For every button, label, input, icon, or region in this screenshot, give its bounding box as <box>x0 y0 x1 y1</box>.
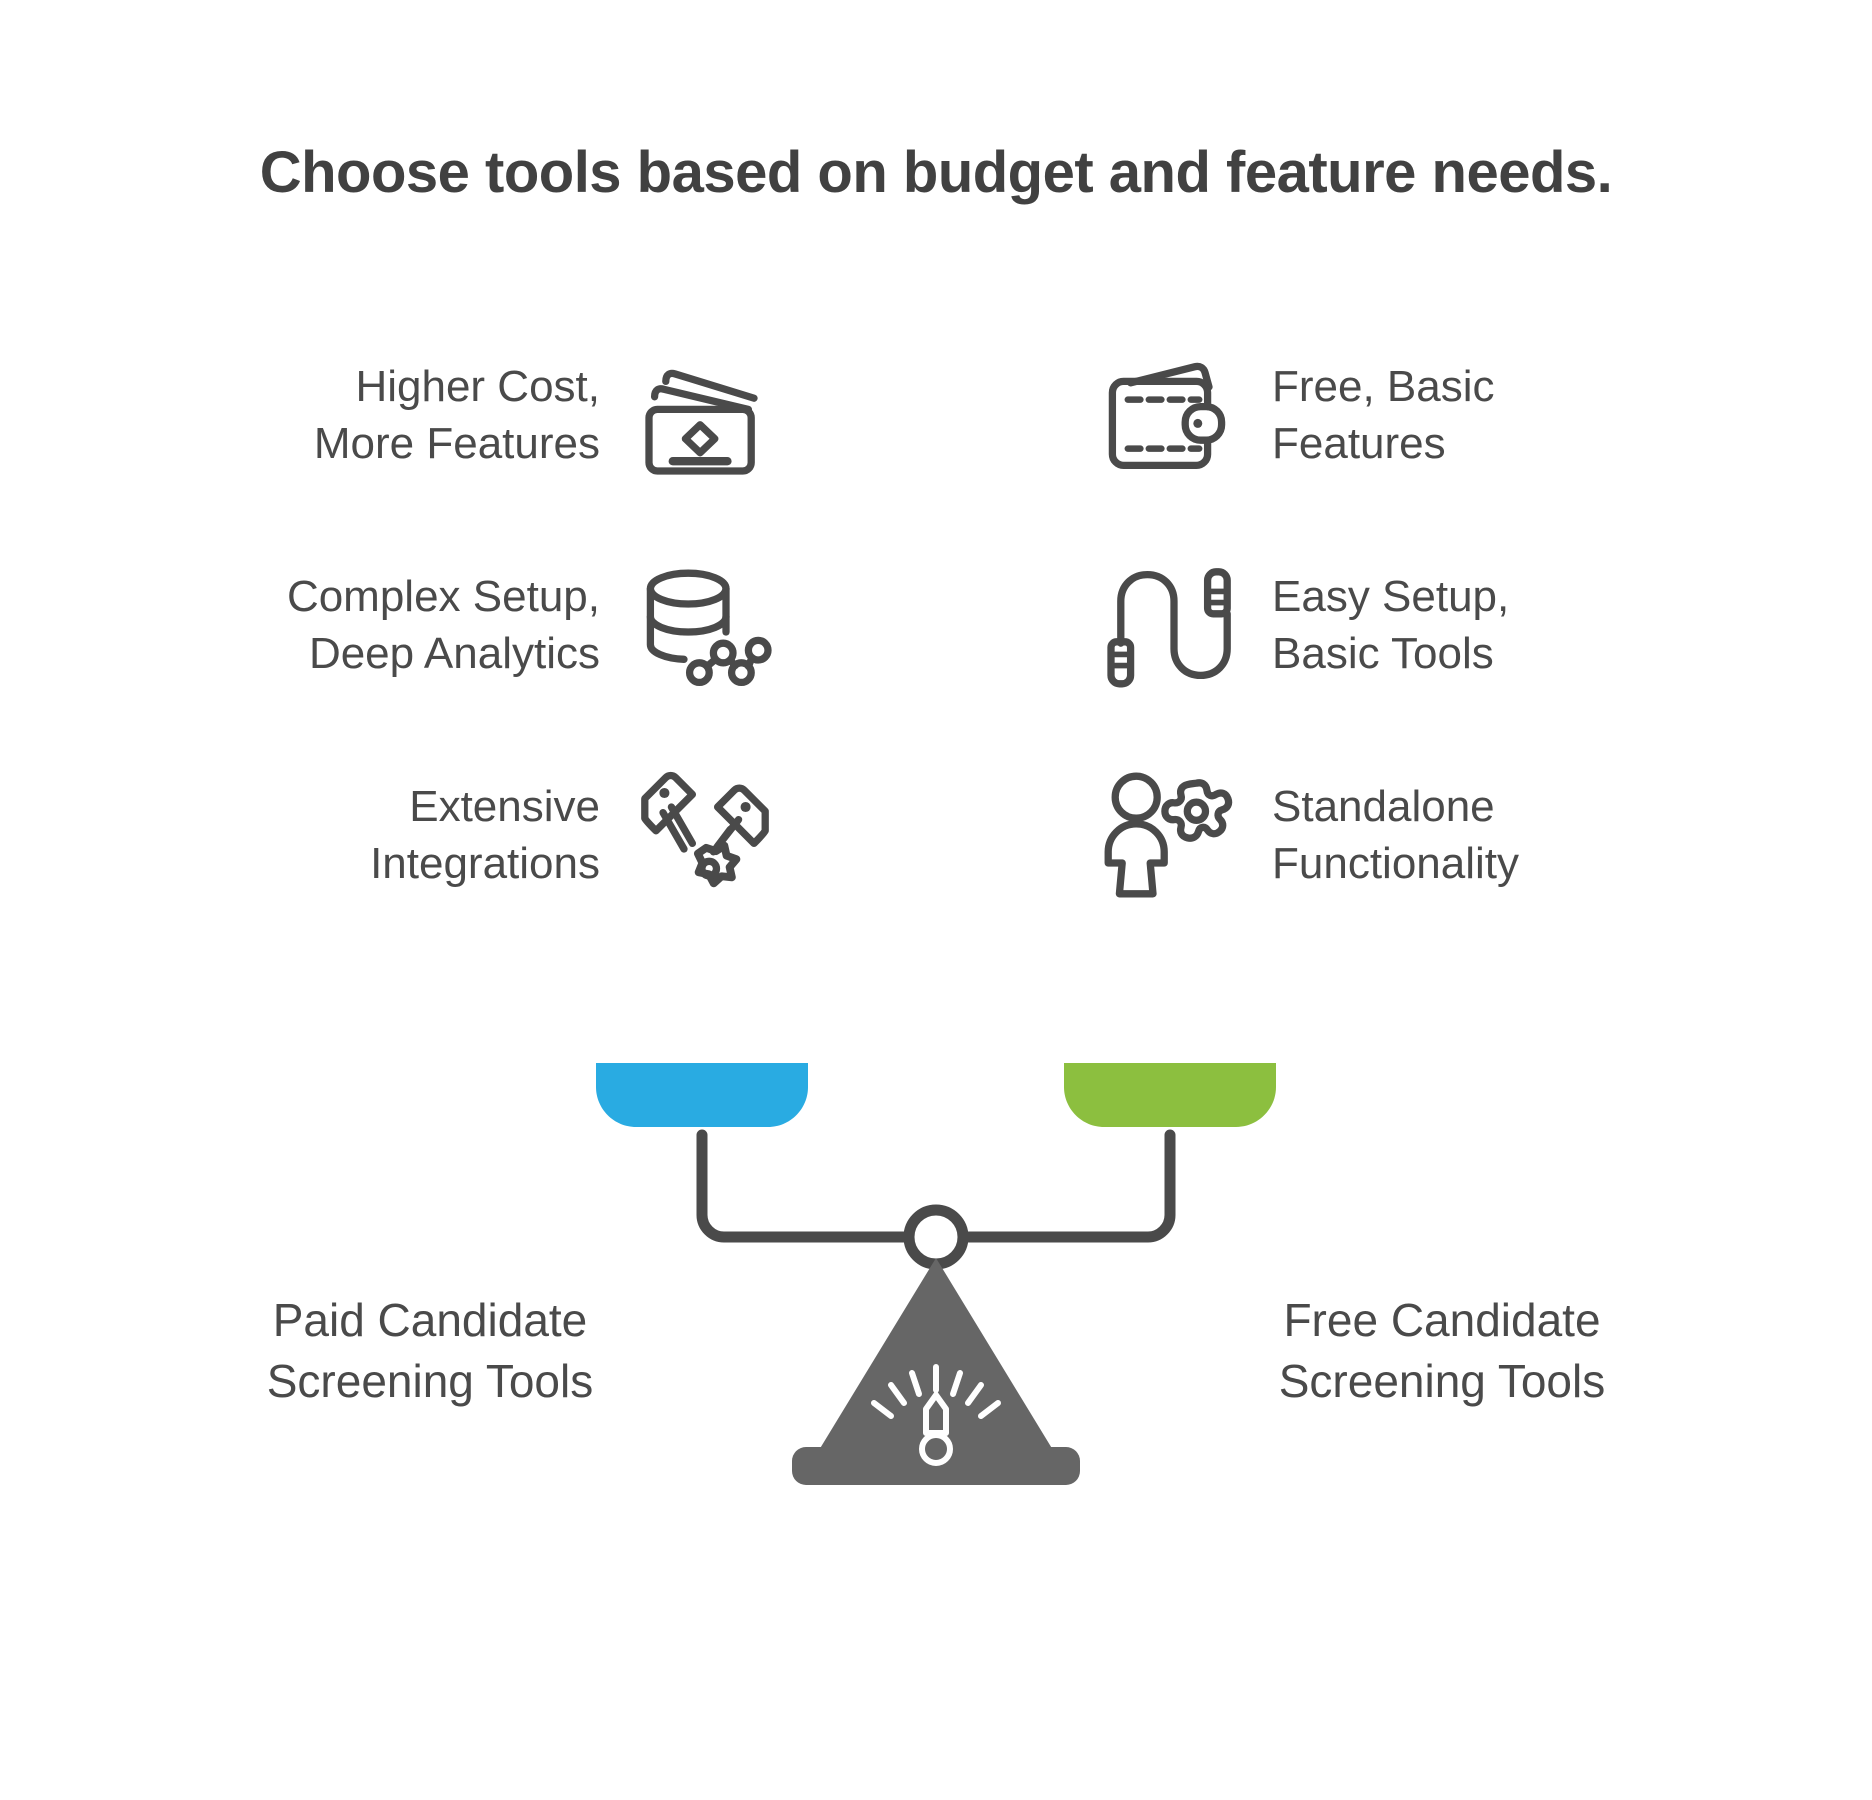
feature-label: Extensive Integrations <box>370 778 630 892</box>
feature-row: Extensive Integrations <box>0 750 1872 960</box>
free-side-pan <box>1064 1063 1276 1127</box>
balance-scale-icon <box>586 1055 1286 1505</box>
tags-gear-icon <box>630 760 780 910</box>
caption-paid: Paid Candidate Screening Tools <box>130 1290 730 1411</box>
feature-label: Free, Basic Features <box>1242 358 1495 472</box>
feature-right-3: Standalone Functionality <box>1092 750 1732 920</box>
feature-left-2: Complex Setup, Deep Analytics <box>140 540 780 710</box>
page-title: Choose tools based on budget and feature… <box>0 140 1872 207</box>
database-analytics-icon <box>630 550 780 700</box>
feature-right-1: Free, Basic Features <box>1092 330 1732 500</box>
feature-row: Higher Cost, More Features <box>0 330 1872 540</box>
infographic-root: Choose tools based on budget and feature… <box>0 0 1872 1800</box>
feature-rows: Higher Cost, More Features <box>0 330 1872 960</box>
feature-right-2: Easy Setup, Basic Tools <box>1092 540 1732 710</box>
feature-label: Higher Cost, More Features <box>314 358 630 472</box>
person-gear-icon <box>1092 760 1242 910</box>
wallet-icon <box>1092 340 1242 490</box>
audio-cable-icon <box>1092 550 1242 700</box>
feature-left-1: Higher Cost, More Features <box>140 330 780 500</box>
caption-free: Free Candidate Screening Tools <box>1142 1290 1742 1411</box>
feature-label: Easy Setup, Basic Tools <box>1242 568 1509 682</box>
feature-label: Complex Setup, Deep Analytics <box>287 568 630 682</box>
credit-cards-icon <box>630 340 780 490</box>
feature-label: Standalone Functionality <box>1242 778 1519 892</box>
paid-side-pan <box>596 1063 808 1127</box>
feature-row: Complex Setup, Deep Analytics <box>0 540 1872 750</box>
feature-left-3: Extensive Integrations <box>140 750 780 920</box>
